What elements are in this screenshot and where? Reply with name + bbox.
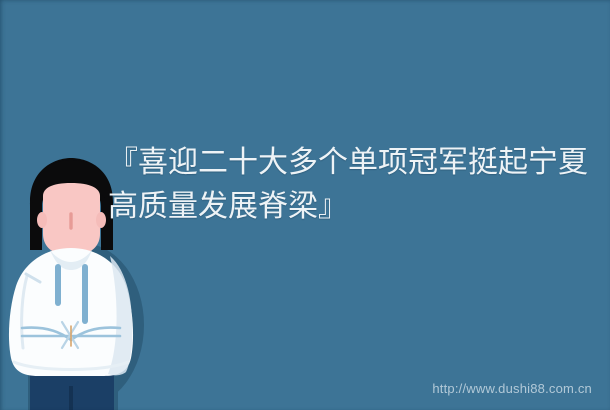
headline-text: 『喜迎二十大多个单项冠军挺起宁夏高质量发展脊梁』 xyxy=(108,141,588,229)
news-banner-image: 『喜迎二十大多个单项冠军挺起宁夏高质量发展脊梁』 http://www.dush… xyxy=(0,0,610,410)
hoodie xyxy=(9,248,133,376)
face xyxy=(37,183,106,256)
site-watermark: http://www.dushi88.com.cn xyxy=(432,381,592,396)
